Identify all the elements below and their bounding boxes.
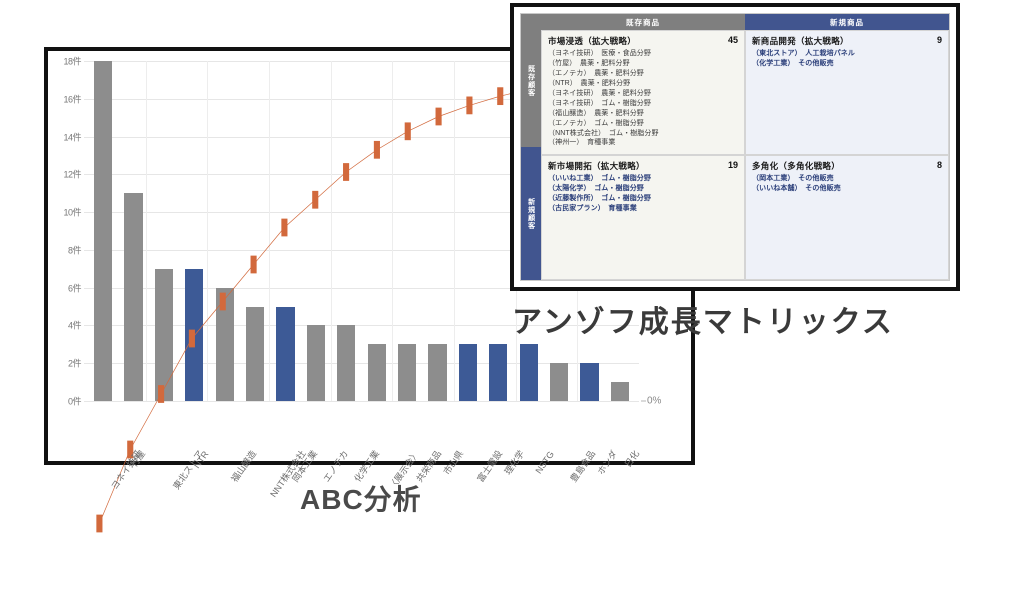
chart-bar-column[interactable] — [179, 61, 209, 401]
quadrant-title: 新商品開発（拡大戦略） — [752, 35, 942, 47]
chart-bar-column[interactable] — [483, 61, 513, 401]
chart-bar-column[interactable] — [240, 61, 270, 401]
quadrant-count: 19 — [728, 160, 738, 170]
x-tick-label: 富士電設 — [474, 448, 505, 485]
caption-ansoff-matrix: アンゾフ成長マトリックス — [512, 297, 894, 341]
y-tick-label: 2件 — [68, 357, 81, 370]
chart-bar-column[interactable] — [270, 61, 300, 401]
ansoff-grid: 既存商品 新規商品 市場浸透（拡大戦略）45（ヨネイ技研） 医療・食品分野（竹屋… — [541, 14, 949, 280]
y-tick-label: 10件 — [63, 206, 81, 219]
quadrant-list-item[interactable]: （岡本工業） その他販売 — [752, 174, 942, 184]
quadrant-list-item[interactable]: （福山醸造） 農薬・肥料分野 — [548, 109, 738, 119]
y-tick-label: 6件 — [68, 281, 81, 294]
x-tick-label: 日化 — [621, 448, 642, 470]
y2-tick-mark — [641, 401, 646, 402]
chart-bar[interactable] — [428, 344, 446, 401]
quadrant-list-item[interactable]: （近藤製作所） ゴム・樹脂分野 — [548, 194, 738, 204]
quadrant-list-item[interactable]: （ヨネイ技研） ゴム・樹脂分野 — [548, 99, 738, 109]
quadrant-item-list: （ヨネイ技研） 医療・食品分野（竹屋） 農薬・肥料分野（エノテカ） 農薬・肥料分… — [548, 49, 738, 148]
chart-bar[interactable] — [94, 61, 112, 401]
ansoff-growth-matrix: 既存顧客 新規顧客 既存商品 新規商品 市場浸透（拡大戦略）45（ヨネイ技研） … — [510, 3, 960, 291]
ansoff-quadrant-product-development[interactable]: 新商品開発（拡大戦略）9（東北ストア） 人工栽培パネル（化学工業） その他販売 — [745, 30, 949, 155]
chart-bar[interactable] — [459, 344, 477, 401]
quadrant-list-item[interactable]: （神州一） 育種事業 — [548, 138, 738, 148]
chart-bar[interactable] — [124, 193, 142, 401]
y-tick-label: 18件 — [63, 55, 81, 68]
quadrant-item-list: （いいね工業） ゴム・樹脂分野（太陽化学） ゴム・樹脂分野（近藤製作所） ゴム・… — [548, 174, 738, 214]
chart-bar[interactable] — [246, 307, 264, 401]
chart-bar[interactable] — [520, 344, 538, 401]
quadrant-list-item[interactable]: （古民家プラン） 育種事業 — [548, 204, 738, 214]
quadrant-title: 市場浸透（拡大戦略） — [548, 35, 738, 47]
chart-bar[interactable] — [580, 363, 598, 401]
x-tick-label: 理化学 — [501, 448, 527, 478]
chart-x-axis: ヨネイ技研竹屋東北ストアNTR福山醸造NNT株式会社岡本工業エノテカ化学工業〈展… — [84, 401, 639, 461]
chart-bar[interactable] — [550, 363, 568, 401]
chart-bar-column[interactable] — [392, 61, 422, 401]
chart-bar[interactable] — [368, 344, 386, 401]
chart-bar[interactable] — [276, 307, 294, 401]
ansoff-row-header-existing-customer: 既存顧客 — [521, 14, 541, 147]
pareto-marker — [96, 515, 102, 533]
ansoff-col-header-existing-product: 既存商品 — [541, 14, 745, 30]
y-tick-label: 12件 — [63, 168, 81, 181]
chart-bar[interactable] — [337, 325, 355, 401]
y-tick-label: 0件 — [68, 395, 81, 408]
chart-y-axis-left: 18件16件14件12件10件8件6件4件2件0件 — [48, 61, 84, 401]
y-tick-label: 14件 — [63, 130, 81, 143]
x-tick-label: 豊島食品 — [567, 448, 598, 485]
ansoff-quadrant-market-development[interactable]: 新市場開拓（拡大戦略）19（いいね工業） ゴム・樹脂分野（太陽化学） ゴム・樹脂… — [541, 155, 745, 280]
x-tick-label: 市山県 — [439, 448, 465, 478]
caption-abc-analysis: ABC分析 — [300, 478, 422, 518]
quadrant-list-item[interactable]: （竹屋） 農薬・肥料分野 — [548, 59, 738, 69]
chart-bar[interactable] — [489, 344, 507, 401]
quadrant-list-item[interactable]: （NNT株式会社） ゴム・樹脂分野 — [548, 129, 738, 139]
quadrant-list-item[interactable]: （エノテカ） ゴム・樹脂分野 — [548, 119, 738, 129]
quadrant-count: 8 — [937, 160, 942, 170]
quadrant-item-list: （岡本工業） その他販売（いいね本舗） その他販売 — [752, 174, 942, 194]
quadrant-list-item[interactable]: （ヨネイ技研） 医療・食品分野 — [548, 49, 738, 59]
quadrant-title: 多角化（多角化戦略） — [752, 160, 942, 172]
ansoff-col-header-new-product: 新規商品 — [745, 14, 949, 30]
quadrant-list-item[interactable]: （いいね工業） ゴム・樹脂分野 — [548, 174, 738, 184]
chart-bar-column[interactable] — [118, 61, 148, 401]
quadrant-list-item[interactable]: （太陽化学） ゴム・樹脂分野 — [548, 184, 738, 194]
quadrant-count: 45 — [728, 35, 738, 45]
chart-bar-column[interactable] — [88, 61, 118, 401]
chart-bar-column[interactable] — [422, 61, 452, 401]
y-tick-label: 4件 — [68, 319, 81, 332]
ansoff-column-headers: 既存商品 新規商品 — [541, 14, 949, 30]
chart-bar[interactable] — [185, 269, 203, 401]
chart-bar[interactable] — [155, 269, 173, 401]
ansoff-quadrant-row: 新市場開拓（拡大戦略）19（いいね工業） ゴム・樹脂分野（太陽化学） ゴム・樹脂… — [541, 155, 949, 280]
ansoff-quadrant-diversification[interactable]: 多角化（多角化戦略）8（岡本工業） その他販売（いいね本舗） その他販売 — [745, 155, 949, 280]
quadrant-list-item[interactable]: （化学工業） その他販売 — [752, 59, 942, 69]
quadrant-item-list: （東北ストア） 人工栽培パネル（化学工業） その他販売 — [752, 49, 942, 69]
y-tick-label: 8件 — [68, 243, 81, 256]
quadrant-list-item[interactable]: （エノテカ） 農薬・肥料分野 — [548, 69, 738, 79]
chart-bar-column[interactable] — [331, 61, 361, 401]
x-tick-label: 福山醸造 — [227, 448, 258, 485]
chart-bar-column[interactable] — [210, 61, 240, 401]
x-tick-label: ホンダ — [594, 448, 620, 478]
quadrant-title: 新市場開拓（拡大戦略） — [548, 160, 738, 172]
x-tick-label: NSTG — [534, 449, 557, 475]
ansoff-matrix-inner: 既存顧客 新規顧客 既存商品 新規商品 市場浸透（拡大戦略）45（ヨネイ技研） … — [520, 13, 950, 281]
quadrant-list-item[interactable]: （NTR） 農薬・肥料分野 — [548, 79, 738, 89]
ansoff-quadrant-row: 市場浸透（拡大戦略）45（ヨネイ技研） 医療・食品分野（竹屋） 農薬・肥料分野（… — [541, 30, 949, 155]
chart-bar-column[interactable] — [149, 61, 179, 401]
quadrant-list-item[interactable]: （東北ストア） 人工栽培パネル — [752, 49, 942, 59]
quadrant-list-item[interactable]: （ヨネイ技研） 農薬・肥料分野 — [548, 89, 738, 99]
chart-bar-column[interactable] — [453, 61, 483, 401]
slide-canvas: 18件16件14件12件10件8件6件4件2件0件 30%20%10%0% ヨネ… — [0, 0, 1024, 553]
ansoff-quadrant-market-penetration[interactable]: 市場浸透（拡大戦略）45（ヨネイ技研） 医療・食品分野（竹屋） 農薬・肥料分野（… — [541, 30, 745, 155]
chart-bar-column[interactable] — [301, 61, 331, 401]
y2-tick-label: 0% — [647, 396, 661, 407]
quadrant-list-item[interactable]: （いいね本舗） その他販売 — [752, 184, 942, 194]
y-tick-label: 16件 — [63, 92, 81, 105]
ansoff-quadrants: 市場浸透（拡大戦略）45（ヨネイ技研） 医療・食品分野（竹屋） 農薬・肥料分野（… — [541, 30, 949, 280]
quadrant-count: 9 — [937, 35, 942, 45]
chart-bar[interactable] — [307, 325, 325, 401]
ansoff-row-headers: 既存顧客 新規顧客 — [521, 14, 541, 280]
chart-bar[interactable] — [216, 288, 234, 401]
chart-bar[interactable] — [398, 344, 416, 401]
chart-bar[interactable] — [611, 382, 629, 401]
ansoff-row-header-new-customer: 新規顧客 — [521, 147, 541, 280]
chart-bar-column[interactable] — [362, 61, 392, 401]
